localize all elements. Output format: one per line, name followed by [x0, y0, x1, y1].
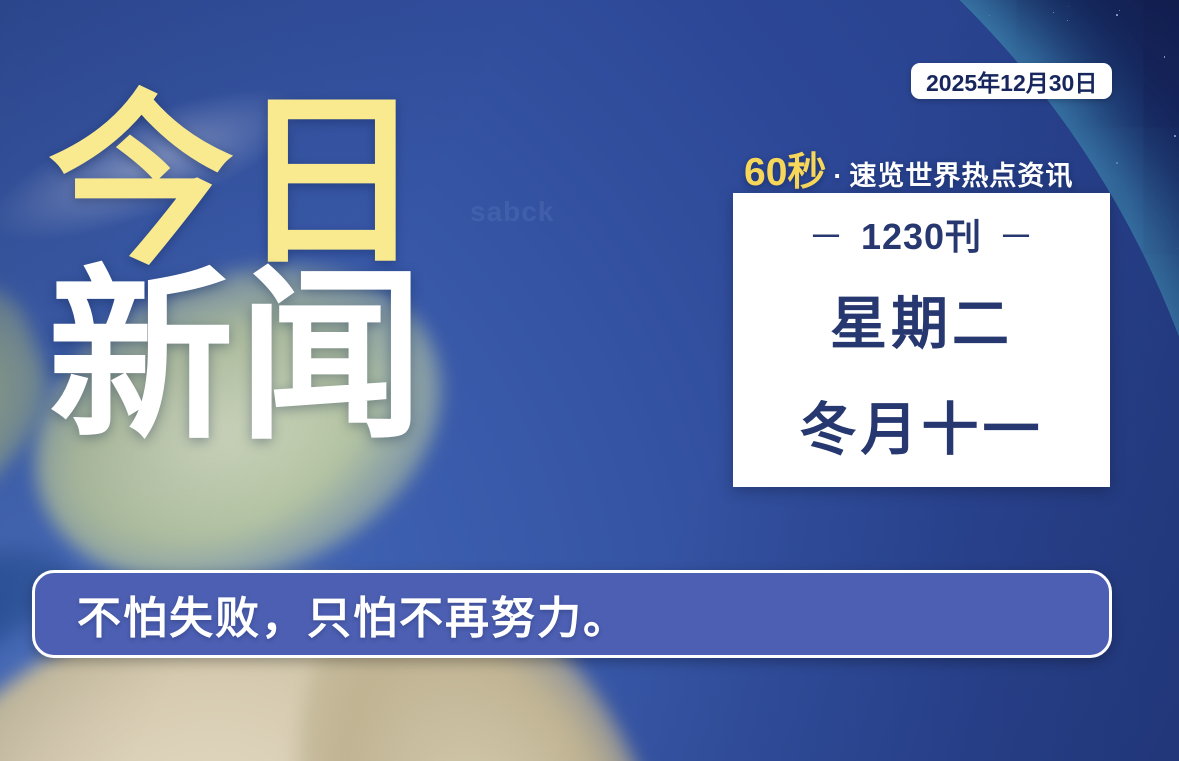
poster-canvas: sabck 今日 新闻 2025年12月30日 60秒 · 速览世界热点资讯 －… [0, 0, 1179, 761]
issue-dash-right: － [998, 208, 1035, 260]
tagline-duration: 60秒 [744, 141, 826, 197]
watermark-text: sabck [470, 196, 554, 228]
quote-bar: 不怕失败，只怕不再努力。 [32, 570, 1112, 658]
tagline: 60秒 · 速览世界热点资讯 [744, 141, 1073, 197]
issue-number: 1230刊 [861, 208, 982, 260]
page-title: 今日 新闻 [48, 96, 428, 442]
tagline-description: 速览世界热点资讯 [849, 154, 1073, 193]
weekday-label: 星期二 [830, 278, 1013, 360]
title-line-news: 新闻 [48, 271, 428, 442]
lunar-date-label: 冬月十一 [800, 384, 1044, 466]
quote-text: 不怕失败，只怕不再努力。 [77, 582, 629, 646]
issue-dash-left: － [808, 208, 845, 260]
tagline-separator-icon: · [833, 161, 842, 192]
info-card: － 1230刊 － 星期二 冬月十一 [733, 193, 1110, 487]
date-badge: 2025年12月30日 [911, 63, 1112, 99]
issue-number-row: － 1230刊 － [808, 208, 1035, 260]
title-line-today: 今日 [48, 96, 428, 267]
